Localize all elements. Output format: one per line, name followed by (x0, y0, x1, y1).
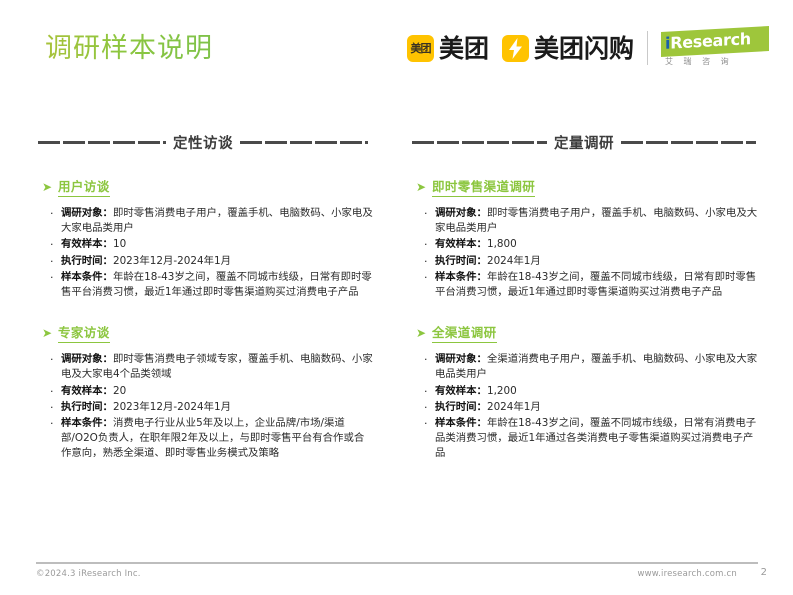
group-expert-interview: ➤ 专家访谈 · 调研对象：即时零售消费电子领域专家，覆盖手机、电脑数码、小家电… (38, 325, 374, 461)
content-area: 定性访谈 ➤ 用户访谈 · 调研对象：即时零售消费电子用户，覆盖手机、电脑数码、… (0, 110, 793, 550)
footer-copyright: ©2024.3 iResearch Inc. (36, 569, 141, 579)
subsection-heading: ➤ 即时零售渠道调研 (416, 179, 762, 197)
list-item-label: 样本条件： (61, 271, 113, 283)
banner-rule-left (412, 141, 547, 144)
list-item-label: 执行时间： (61, 255, 113, 267)
meituan-wordmark: 美团 (439, 36, 489, 61)
list-item-value: 1,200 (487, 385, 517, 397)
list-item: · 有效样本：1,800 (424, 237, 762, 252)
list-item-body: 有效样本：10 (61, 237, 374, 252)
list-item: · 执行时间：2024年1月 (424, 400, 762, 415)
list-item-value: 2023年12月-2024年1月 (113, 401, 231, 413)
list-item-body: 调研对象：即时零售消费电子领域专家，覆盖手机、电脑数码、小家电及大家电4个品类领… (61, 352, 374, 382)
bullet-dot-icon: · (424, 206, 435, 221)
arrow-right-icon: ➤ (416, 179, 432, 195)
list-item-value: 2023年12月-2024年1月 (113, 255, 231, 267)
list-item-label: 执行时间： (61, 401, 113, 413)
bullet-dot-icon: · (50, 237, 61, 252)
list-item: · 有效样本：10 (50, 237, 374, 252)
bullet-list: · 调研对象：全渠道消费电子用户，覆盖手机、电脑数码、小家电及大家电品类用户 ·… (424, 352, 762, 461)
list-item-label: 样本条件： (435, 417, 487, 429)
slide-footer: ©2024.3 iResearch Inc. www.iresearch.com… (0, 567, 793, 587)
list-item-body: 调研对象：即时零售消费电子用户，覆盖手机、电脑数码、小家电及大家电品类用户 (61, 206, 374, 236)
list-item-label: 调研对象： (61, 353, 113, 365)
page-number: 2 (761, 567, 767, 578)
list-item-body: 执行时间：2024年1月 (435, 254, 762, 269)
list-item: · 执行时间：2024年1月 (424, 254, 762, 269)
list-item-label: 执行时间： (435, 255, 487, 267)
list-item: · 样本条件：年龄在18-43岁之间，覆盖不同城市线级，日常有即时零售平台消费习… (50, 270, 374, 300)
list-item: · 有效样本：20 (50, 384, 374, 399)
logo-divider (647, 31, 648, 65)
list-item-label: 执行时间： (435, 401, 487, 413)
list-item-body: 有效样本：1,200 (435, 384, 762, 399)
list-item-value: 2024年1月 (487, 401, 541, 413)
group-instant-retail-channel-survey: ➤ 即时零售渠道调研 · 调研对象：即时零售消费电子用户，覆盖手机、电脑数码、小… (412, 179, 762, 300)
list-item-body: 执行时间：2024年1月 (435, 400, 762, 415)
bullet-dot-icon: · (424, 352, 435, 367)
list-item-value: 1,800 (487, 238, 517, 250)
list-item-body: 样本条件：年龄在18-43岁之间，覆盖不同城市线级，日常有即时零售平台消费习惯，… (61, 270, 374, 300)
list-item-label: 调研对象： (435, 207, 487, 219)
subsection-heading-label: 即时零售渠道调研 (432, 179, 535, 197)
meituan-shangou-wordmark: 美团闪购 (534, 36, 634, 61)
bullet-list: · 调研对象：即时零售消费电子用户，覆盖手机、电脑数码、小家电及大家电品类用户 … (424, 206, 762, 300)
subsection-heading-label: 全渠道调研 (432, 325, 497, 343)
bullet-dot-icon: · (50, 400, 61, 415)
footer-divider (36, 562, 758, 564)
bullet-dot-icon: · (424, 400, 435, 415)
list-item: · 调研对象：即时零售消费电子领域专家，覆盖手机、电脑数码、小家电及大家电4个品… (50, 352, 374, 382)
arrow-right-icon: ➤ (42, 179, 58, 195)
bullet-dot-icon: · (424, 237, 435, 252)
subsection-heading-label: 专家访谈 (58, 325, 110, 343)
bullet-list: · 调研对象：即时零售消费电子用户，覆盖手机、电脑数码、小家电及大家电品类用户 … (50, 206, 374, 300)
lightning-bolt-icon (502, 35, 529, 62)
footer-url: www.iresearch.com.cn (637, 569, 737, 579)
bullet-dot-icon: · (424, 254, 435, 269)
list-item: · 样本条件：年龄在18-43岁之间，覆盖不同城市线级，日常有消费电子品类消费习… (424, 416, 762, 462)
section-banner-label: 定量调研 (554, 132, 614, 153)
list-item-value: 20 (113, 385, 126, 397)
list-item-value: 10 (113, 238, 126, 250)
group-spacer (38, 301, 374, 325)
list-item: · 调研对象：全渠道消费电子用户，覆盖手机、电脑数码、小家电及大家电品类用户 (424, 352, 762, 382)
list-item-label: 有效样本： (61, 385, 113, 397)
list-item-body: 调研对象：即时零售消费电子用户，覆盖手机、电脑数码、小家电及大家电品类用户 (435, 206, 762, 236)
list-item: · 有效样本：1,200 (424, 384, 762, 399)
bullet-dot-icon: · (424, 270, 435, 285)
meituan-logo-mark: 美团 (407, 35, 434, 62)
group-user-interview: ➤ 用户访谈 · 调研对象：即时零售消费电子用户，覆盖手机、电脑数码、小家电及大… (38, 179, 374, 300)
list-item: · 样本条件：年龄在18-43岁之间，覆盖不同城市线级，日常有即时零售平台消费习… (424, 270, 762, 300)
list-item: · 执行时间：2023年12月-2024年1月 (50, 254, 374, 269)
list-item-body: 样本条件：年龄在18-43岁之间，覆盖不同城市线级，日常有消费电子品类消费习惯，… (435, 416, 762, 462)
iresearch-name-rest: Research (670, 29, 751, 53)
group-omnichannel-survey: ➤ 全渠道调研 · 调研对象：全渠道消费电子用户，覆盖手机、电脑数码、小家电及大… (412, 325, 762, 461)
list-item: · 样本条件：消费电子行业从业5年及以上，企业品牌/市场/渠道部/O2O负责人，… (50, 416, 374, 462)
bullet-dot-icon: · (50, 416, 61, 431)
list-item-body: 执行时间：2023年12月-2024年1月 (61, 400, 374, 415)
bullet-dot-icon: · (424, 384, 435, 399)
subsection-heading: ➤ 专家访谈 (42, 325, 374, 343)
list-item-body: 执行时间：2023年12月-2024年1月 (61, 254, 374, 269)
banner-rule-right (240, 141, 368, 144)
bullet-list: · 调研对象：即时零售消费电子领域专家，覆盖手机、电脑数码、小家电及大家电4个品… (50, 352, 374, 461)
list-item-value: 2024年1月 (487, 255, 541, 267)
list-item: · 调研对象：即时零售消费电子用户，覆盖手机、电脑数码、小家电及大家电品类用户 (424, 206, 762, 236)
list-item-body: 调研对象：全渠道消费电子用户，覆盖手机、电脑数码、小家电及大家电品类用户 (435, 352, 762, 382)
list-item: · 执行时间：2023年12月-2024年1月 (50, 400, 374, 415)
list-item-label: 有效样本： (435, 385, 487, 397)
group-spacer (412, 301, 762, 325)
bullet-dot-icon: · (50, 270, 61, 285)
list-item-label: 调研对象： (61, 207, 113, 219)
arrow-right-icon: ➤ (42, 325, 58, 341)
column-quantitative: 定量调研 ➤ 即时零售渠道调研 · 调研对象：即时零售消费电子用户，覆盖手机、电… (396, 110, 792, 550)
banner-rule-left (38, 141, 166, 144)
list-item-body: 有效样本：1,800 (435, 237, 762, 252)
list-item-body: 样本条件：消费电子行业从业5年及以上，企业品牌/市场/渠道部/O2O负责人，在职… (61, 416, 374, 462)
list-item-body: 有效样本：20 (61, 384, 374, 399)
iresearch-sub-label: 艾 瑞 咨 询 (665, 56, 769, 67)
page-title: 调研样本说明 (45, 30, 213, 68)
bullet-dot-icon: · (50, 254, 61, 269)
bullet-dot-icon: · (424, 416, 435, 431)
list-item: · 调研对象：即时零售消费电子用户，覆盖手机、电脑数码、小家电及大家电品类用户 (50, 206, 374, 236)
bullet-dot-icon: · (50, 384, 61, 399)
iresearch-logo: iResearch 艾 瑞 咨 询 (661, 27, 769, 69)
arrow-right-icon: ➤ (416, 325, 432, 341)
logo-lockup: 美团 美团 美团闪购 iResearch 艾 瑞 咨 询 (407, 26, 769, 70)
banner-rule-right (621, 141, 756, 144)
section-banner-qualitative: 定性访谈 (38, 132, 374, 153)
section-banner-label: 定性访谈 (173, 132, 233, 153)
list-item-label: 有效样本： (435, 238, 487, 250)
section-banner-quantitative: 定量调研 (412, 132, 762, 153)
list-item-body: 样本条件：年龄在18-43岁之间，覆盖不同城市线级，日常有即时零售平台消费习惯，… (435, 270, 762, 300)
subsection-heading: ➤ 全渠道调研 (416, 325, 762, 343)
subsection-heading-label: 用户访谈 (58, 179, 110, 197)
list-item-label: 有效样本： (61, 238, 113, 250)
list-item-label: 样本条件： (435, 271, 487, 283)
bullet-dot-icon: · (50, 352, 61, 367)
column-qualitative: 定性访谈 ➤ 用户访谈 · 调研对象：即时零售消费电子用户，覆盖手机、电脑数码、… (0, 110, 396, 550)
bullet-dot-icon: · (50, 206, 61, 221)
slide-header: 调研样本说明 美团 美团 美团闪购 iResearch 艾 瑞 咨 询 (0, 0, 793, 92)
list-item-label: 样本条件： (61, 417, 113, 429)
subsection-heading: ➤ 用户访谈 (42, 179, 374, 197)
list-item-label: 调研对象： (435, 353, 487, 365)
